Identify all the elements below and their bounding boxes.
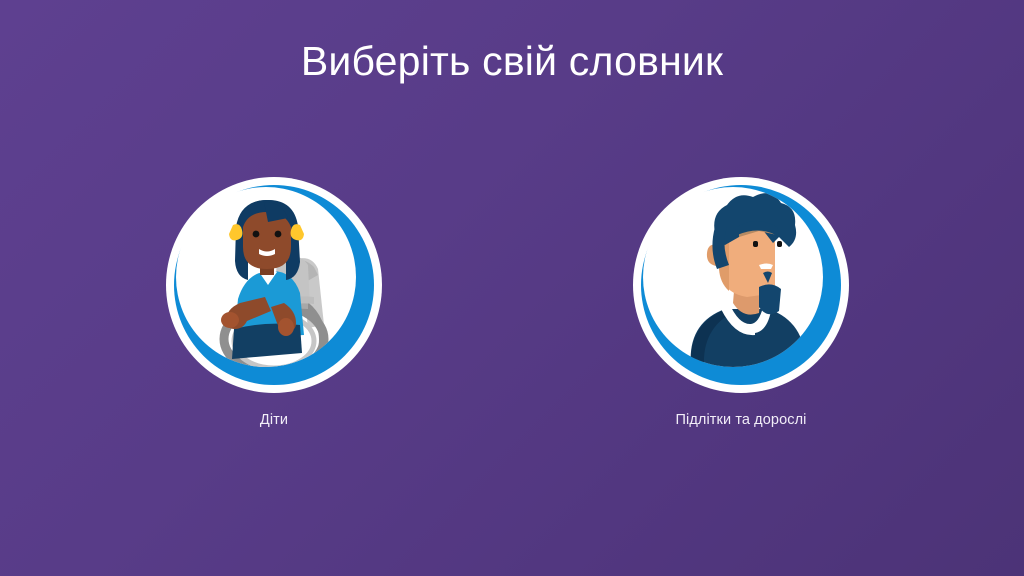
girl-in-wheelchair-icon bbox=[176, 187, 356, 367]
option-children[interactable]: Діти bbox=[124, 177, 424, 428]
avatar-teens-and-adults[interactable] bbox=[633, 177, 849, 393]
avatar-image-teens-and-adults bbox=[643, 187, 823, 367]
option-label-children: Діти bbox=[124, 412, 424, 428]
slide-canvas: Виберіть свій словник bbox=[0, 0, 1024, 576]
man-portrait-icon bbox=[643, 187, 823, 367]
page-title: Виберіть свій словник bbox=[0, 38, 1024, 85]
option-teens-and-adults[interactable]: Підлітки та дорослі bbox=[591, 177, 891, 428]
option-label-teens-and-adults: Підлітки та дорослі bbox=[591, 412, 891, 428]
avatar-children[interactable] bbox=[166, 177, 382, 393]
avatar-image-children bbox=[176, 187, 356, 367]
